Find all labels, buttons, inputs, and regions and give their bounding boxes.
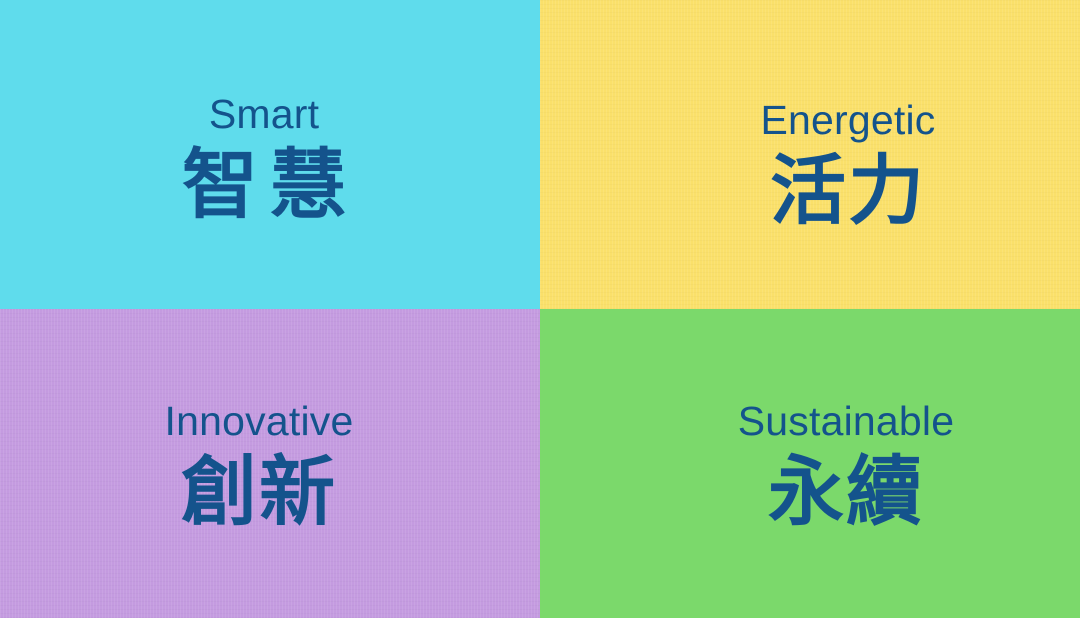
value-label-zh-energetic: 活力 (770, 153, 926, 229)
quadrant-innovative[interactable]: Innovative 創新 (0, 309, 540, 618)
brand-values-quadrant-grid: Smart 智慧 Energetic 活力 Innovative 創新 Sust… (0, 0, 1080, 618)
value-text-block-energetic: Energetic 活力 (760, 100, 935, 229)
value-label-zh-innovative: 創新 (181, 454, 337, 530)
value-label-en-innovative: Innovative (165, 401, 354, 442)
value-text-block-sustainable: Sustainable 永續 (738, 401, 954, 530)
value-label-zh-smart: 智慧 (170, 147, 358, 223)
value-label-zh-sustainable: 永續 (768, 454, 924, 530)
value-label-en-smart: Smart (209, 94, 319, 135)
value-text-block-innovative: Innovative 創新 (165, 401, 354, 530)
value-label-en-sustainable: Sustainable (738, 401, 954, 442)
value-label-en-energetic: Energetic (760, 100, 935, 141)
quadrant-smart[interactable]: Smart 智慧 (0, 0, 540, 309)
value-text-block-smart: Smart 智慧 (170, 94, 358, 223)
quadrant-sustainable[interactable]: Sustainable 永續 (540, 309, 1080, 618)
quadrant-energetic[interactable]: Energetic 活力 (540, 0, 1080, 309)
